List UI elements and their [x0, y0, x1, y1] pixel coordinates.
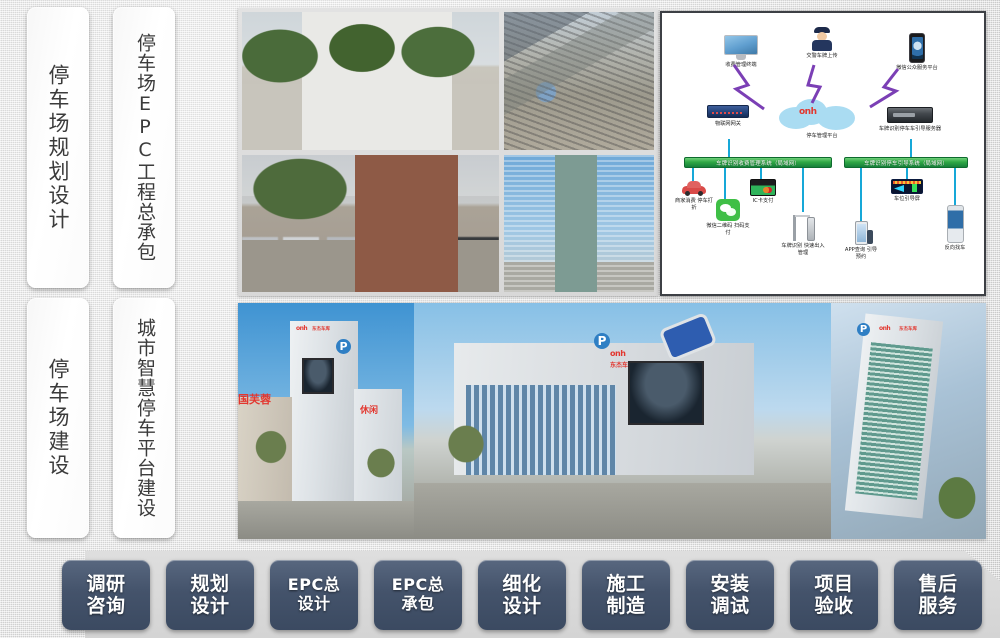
tower-billboard — [302, 358, 334, 394]
process-step-epc-overall-design[interactable]: EPC总 设计 — [270, 560, 358, 630]
process-step-installation-commissioning[interactable]: 安装 调试 — [686, 560, 774, 630]
landscape-trees — [935, 473, 979, 523]
render-garage-facade-billboard: onh 东杰车库 P — [414, 303, 831, 539]
leaf-label: 车位引导屏 — [890, 196, 924, 203]
cloud-icon: onh — [779, 97, 857, 131]
leaf-label: APP查询 引导 预约 — [842, 247, 880, 260]
sidebar-panel-parking-construction[interactable]: 停车场建设 — [27, 298, 89, 538]
led-guidance-screen-icon — [891, 179, 923, 194]
process-step-survey-consulting[interactable]: 调研 咨询 — [62, 560, 150, 630]
system-box-plate-recognition-guidance: 车牌识别停车引导系统（局域网） — [844, 157, 968, 168]
branch-line — [860, 168, 862, 222]
sidebar-panel-parking-epc-contracting[interactable]: 停车场EPC工程总承包 — [113, 7, 175, 288]
cloud-platform-node: onh 停车管理平台 — [779, 97, 865, 140]
render-aerial-tower: P onh 东杰车库 — [831, 303, 986, 539]
node-label: 车牌识别停车车引导服务器 — [860, 126, 960, 133]
photo-glass-office-tower — [504, 155, 654, 293]
traffic-police-node: 交警车牌上传 — [784, 27, 860, 60]
iot-gateway-node: 物联网网关 — [690, 105, 766, 128]
onh-logo: onh — [799, 107, 817, 117]
wechat-qr-payment-node: 微信二维码 扫码支付 — [706, 199, 750, 236]
step-label: 项目 验收 — [814, 573, 853, 618]
branch-line — [954, 168, 956, 206]
node-label: 微信公众服务平台 — [874, 65, 960, 72]
ic-card-icon — [750, 179, 776, 196]
system-box-label: 车牌识别停车引导系统（局域网） — [864, 159, 948, 167]
parking-p-icon: P — [594, 333, 610, 349]
process-step-after-sales-service[interactable]: 售后 服务 — [894, 560, 982, 630]
step-label: 售后 服务 — [918, 573, 957, 618]
street-tree — [252, 427, 290, 467]
street-tree — [364, 445, 398, 481]
space-guidance-screen-node: 车位引导屏 — [890, 179, 924, 203]
smartphone-icon — [909, 33, 925, 63]
app-phone-icon — [855, 221, 868, 245]
photo-aerial-city-parking — [504, 12, 654, 150]
node-label: 交警车牌上传 — [784, 53, 860, 60]
router-icon — [707, 105, 749, 118]
process-step-epc-general-contracting[interactable]: EPC总 承包 — [374, 560, 462, 630]
sidebar-panel-label: 城市智慧停车平台建设 — [134, 318, 154, 518]
ic-card-payment-node: IC卡支付 — [746, 179, 780, 205]
branch-line — [802, 168, 804, 212]
system-box-plate-recognition-charging: 车牌识别收费管理系统（局域网） — [684, 157, 832, 168]
plate-fast-entry-exit-node: 车牌识别 快速出入管理 — [780, 211, 826, 256]
parking-p-icon: P — [857, 323, 870, 336]
police-officer-icon — [812, 27, 832, 51]
page-root: 停车场规划设计 停车场EPC工程总承包 停车场建设 城市智慧停车平台建设 onh… — [0, 0, 1000, 638]
red-car-icon — [682, 181, 706, 196]
cloud-platform-label: 停车管理平台 — [779, 133, 865, 140]
process-step-planning-design[interactable]: 规划 设计 — [166, 560, 254, 630]
brand-cn-label: 东杰车库 — [312, 326, 330, 332]
process-step-project-acceptance[interactable]: 项目 验收 — [790, 560, 878, 630]
process-step-construction-manufacturing[interactable]: 施工 制造 — [582, 560, 670, 630]
sidebar-panel-label: 停车场EPC工程总承包 — [134, 33, 154, 262]
onh-logo: onh — [610, 349, 625, 358]
render-tower-garage-street: onh 东杰车库 P 国芙蓉 休闲 — [238, 303, 414, 539]
process-steps: 调研 咨询 规划 设计 EPC总 设计 EPC总 承包 细化 设计 施工 制造 … — [62, 560, 982, 630]
step-label: EPC总 设计 — [288, 576, 340, 614]
sidebar-panel-parking-planning-design[interactable]: 停车场规划设计 — [27, 7, 89, 288]
photo-lot-brick-building — [242, 155, 499, 293]
step-label: 施工 制造 — [606, 573, 645, 618]
street-tree — [444, 421, 488, 467]
app-query-guide-booking-node: APP查询 引导 预约 — [842, 221, 880, 260]
monitor-icon — [724, 35, 758, 60]
onh-logo: onh — [879, 325, 890, 332]
sidebar-panel-label: 停车场建设 — [47, 358, 69, 478]
branch-line — [724, 168, 726, 200]
server-icon — [887, 107, 933, 123]
node-label: 收费管理终端 — [706, 62, 776, 69]
guidance-server-node: 车牌识别停车车引导服务器 — [860, 107, 960, 133]
self-service-kiosk-icon — [947, 205, 964, 243]
system-box-label: 车牌识别收费管理系统（局域网） — [716, 159, 800, 167]
branch-line — [692, 168, 694, 182]
sign-leisure: 休闲 — [360, 403, 378, 416]
facade-billboard — [628, 361, 704, 425]
step-label: 安装 调试 — [710, 573, 749, 618]
sign-guofurong: 国芙蓉 — [238, 391, 271, 407]
sidebar-panel-smart-city-parking-platform[interactable]: 城市智慧停车平台建设 — [113, 298, 175, 538]
charging-management-terminal-node: 收费管理终端 — [706, 35, 776, 69]
rendering-strip: onh 东杰车库 P 国芙蓉 休闲 onh 东杰车库 P P — [238, 303, 986, 539]
step-label: 规划 设计 — [190, 573, 229, 618]
sidebar-panel-label: 停车场规划设计 — [47, 64, 69, 232]
photo-collage — [238, 8, 658, 296]
barrier-gate-icon — [791, 211, 815, 241]
step-label: 细化 设计 — [502, 573, 541, 618]
process-step-detailed-design[interactable]: 细化 设计 — [478, 560, 566, 630]
step-label: EPC总 承包 — [392, 576, 444, 614]
wechat-platform-node: 微信公众服务平台 — [874, 33, 960, 72]
leaf-label: 反向找车 — [938, 245, 972, 252]
brand-cn-label: 东杰车库 — [899, 326, 917, 332]
wechat-icon — [716, 199, 740, 221]
node-label: 物联网网关 — [690, 121, 766, 128]
reverse-car-finding-node: 反向找车 — [938, 205, 972, 252]
system-architecture-diagram: onh 停车管理平台 收费管理终端 — [660, 11, 986, 296]
trunk-line-left — [728, 139, 730, 157]
street-road — [414, 483, 831, 539]
leaf-label: IC卡支付 — [746, 198, 780, 205]
onh-logo: onh — [296, 325, 307, 332]
step-label: 调研 咨询 — [86, 573, 125, 618]
trunk-line-right — [910, 139, 912, 157]
street-road — [238, 501, 414, 539]
leaf-label: 车牌识别 快速出入管理 — [780, 243, 826, 256]
parking-p-icon: P — [336, 339, 351, 354]
photo-surface-parking-lot — [242, 12, 499, 150]
leaf-label: 微信二维码 扫码支付 — [706, 223, 750, 236]
glass-curtain-wall — [466, 385, 616, 475]
